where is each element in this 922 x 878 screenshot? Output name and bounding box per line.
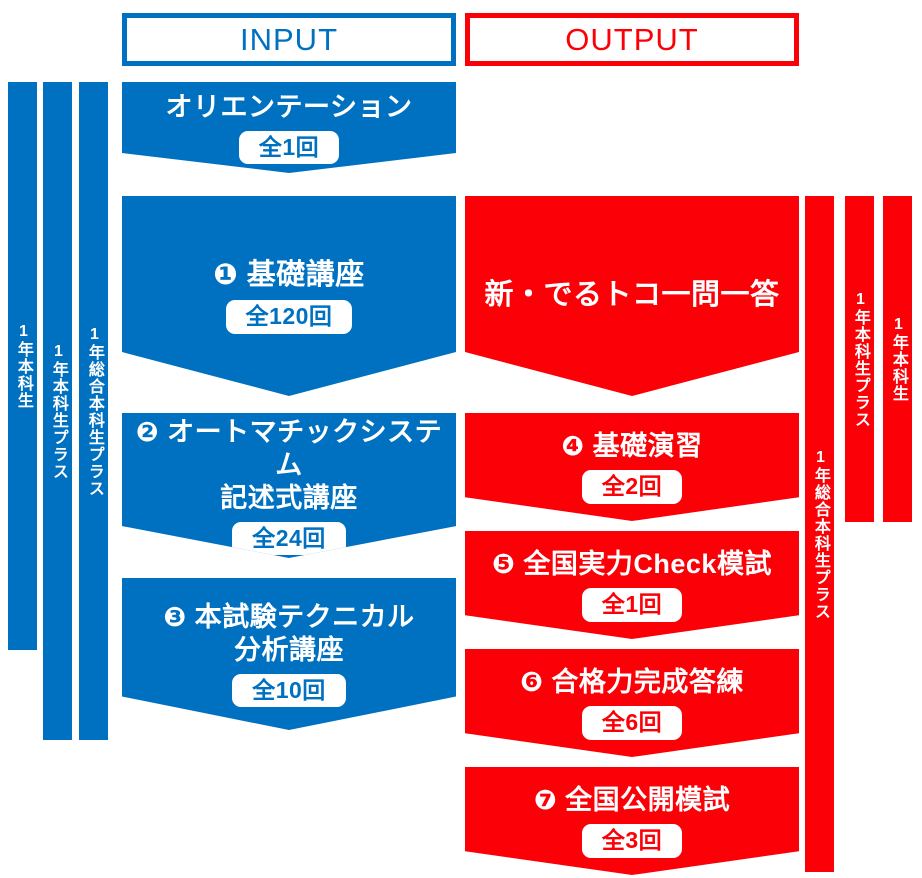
- header-input: INPUT: [122, 13, 456, 66]
- output-box-kiso-enshu-title: ❹ 基礎演習: [561, 430, 702, 463]
- right-bar-sogo-honkasei-plus: 1年総合本科生プラス: [805, 196, 834, 872]
- left-bar-sogo-honkasei-plus-label: 1年総合本科生プラス: [85, 326, 102, 497]
- input-box-orientation-title: オリエンテーション: [166, 91, 413, 124]
- right-bar-honkasei-label: 1年本科生: [889, 316, 906, 402]
- left-bar-honkasei-plus-label: 1年本科生プラス: [49, 343, 66, 480]
- right-bar-honkasei-plus: 1年本科生プラス: [845, 196, 874, 522]
- input-box-orientation[interactable]: オリエンテーション 全1回: [122, 82, 456, 173]
- output-box-deruto-ichimon-title: 新・でるトコ一問一答: [484, 278, 779, 313]
- output-box-zenkoku-koukai-moshi-count: 全3回: [582, 824, 682, 858]
- input-box-technical-analysis[interactable]: ❸ 本試験テクニカル 分析講座 全10回: [122, 578, 456, 730]
- output-box-goukakuryoku-touren[interactable]: ❻ 合格力完成答練 全6回: [465, 649, 799, 757]
- output-box-zenkoku-check-moshi-count: 全1回: [582, 588, 682, 622]
- output-box-goukakuryoku-touren-title: ❻ 合格力完成答練: [520, 666, 744, 699]
- left-bar-honkasei-plus: 1年本科生プラス: [43, 82, 72, 740]
- input-box-kiso-kouza-title: ❶ 基礎講座: [213, 258, 365, 293]
- header-output-label: OUTPUT: [565, 22, 698, 58]
- input-box-technical-analysis-count: 全10回: [232, 674, 346, 708]
- output-box-zenkoku-koukai-moshi[interactable]: ❼ 全国公開模試 全3回: [465, 767, 799, 875]
- header-input-label: INPUT: [240, 22, 338, 58]
- left-bar-honkasei: 1年本科生: [8, 82, 37, 650]
- input-box-automatic-system-count: 全24回: [232, 522, 346, 556]
- output-box-zenkoku-koukai-moshi-title: ❼ 全国公開模試: [534, 784, 730, 817]
- left-bar-sogo-honkasei-plus: 1年総合本科生プラス: [79, 82, 108, 740]
- input-box-technical-analysis-title: ❸ 本試験テクニカル 分析講座: [163, 601, 414, 667]
- output-box-goukakuryoku-touren-count: 全6回: [582, 706, 682, 740]
- right-bar-honkasei-plus-label: 1年本科生プラス: [851, 291, 868, 428]
- header-output: OUTPUT: [465, 13, 799, 66]
- input-box-orientation-count: 全1回: [239, 131, 339, 165]
- input-box-kiso-kouza[interactable]: ❶ 基礎講座 全120回: [122, 196, 456, 396]
- input-box-automatic-system-title: ❷ オートマチックシステム 記述式講座: [132, 416, 446, 515]
- output-box-kiso-enshu-count: 全2回: [582, 470, 682, 504]
- input-box-kiso-kouza-count: 全120回: [226, 300, 353, 334]
- input-box-automatic-system[interactable]: ❷ オートマチックシステム 記述式講座 全24回: [122, 413, 456, 558]
- output-box-zenkoku-check-moshi-title: ❺ 全国実力Check模試: [492, 548, 772, 581]
- right-bar-sogo-honkasei-plus-label: 1年総合本科生プラス: [811, 449, 828, 620]
- output-box-zenkoku-check-moshi[interactable]: ❺ 全国実力Check模試 全1回: [465, 531, 799, 639]
- output-box-kiso-enshu[interactable]: ❹ 基礎演習 全2回: [465, 413, 799, 521]
- output-box-deruto-ichimon[interactable]: 新・でるトコ一問一答: [465, 196, 799, 396]
- left-bar-honkasei-label: 1年本科生: [14, 323, 31, 409]
- right-bar-honkasei: 1年本科生: [883, 196, 912, 522]
- course-flow-diagram: INPUT OUTPUT 1年本科生 1年本科生プラス 1年総合本科生プラス 1…: [0, 0, 922, 878]
